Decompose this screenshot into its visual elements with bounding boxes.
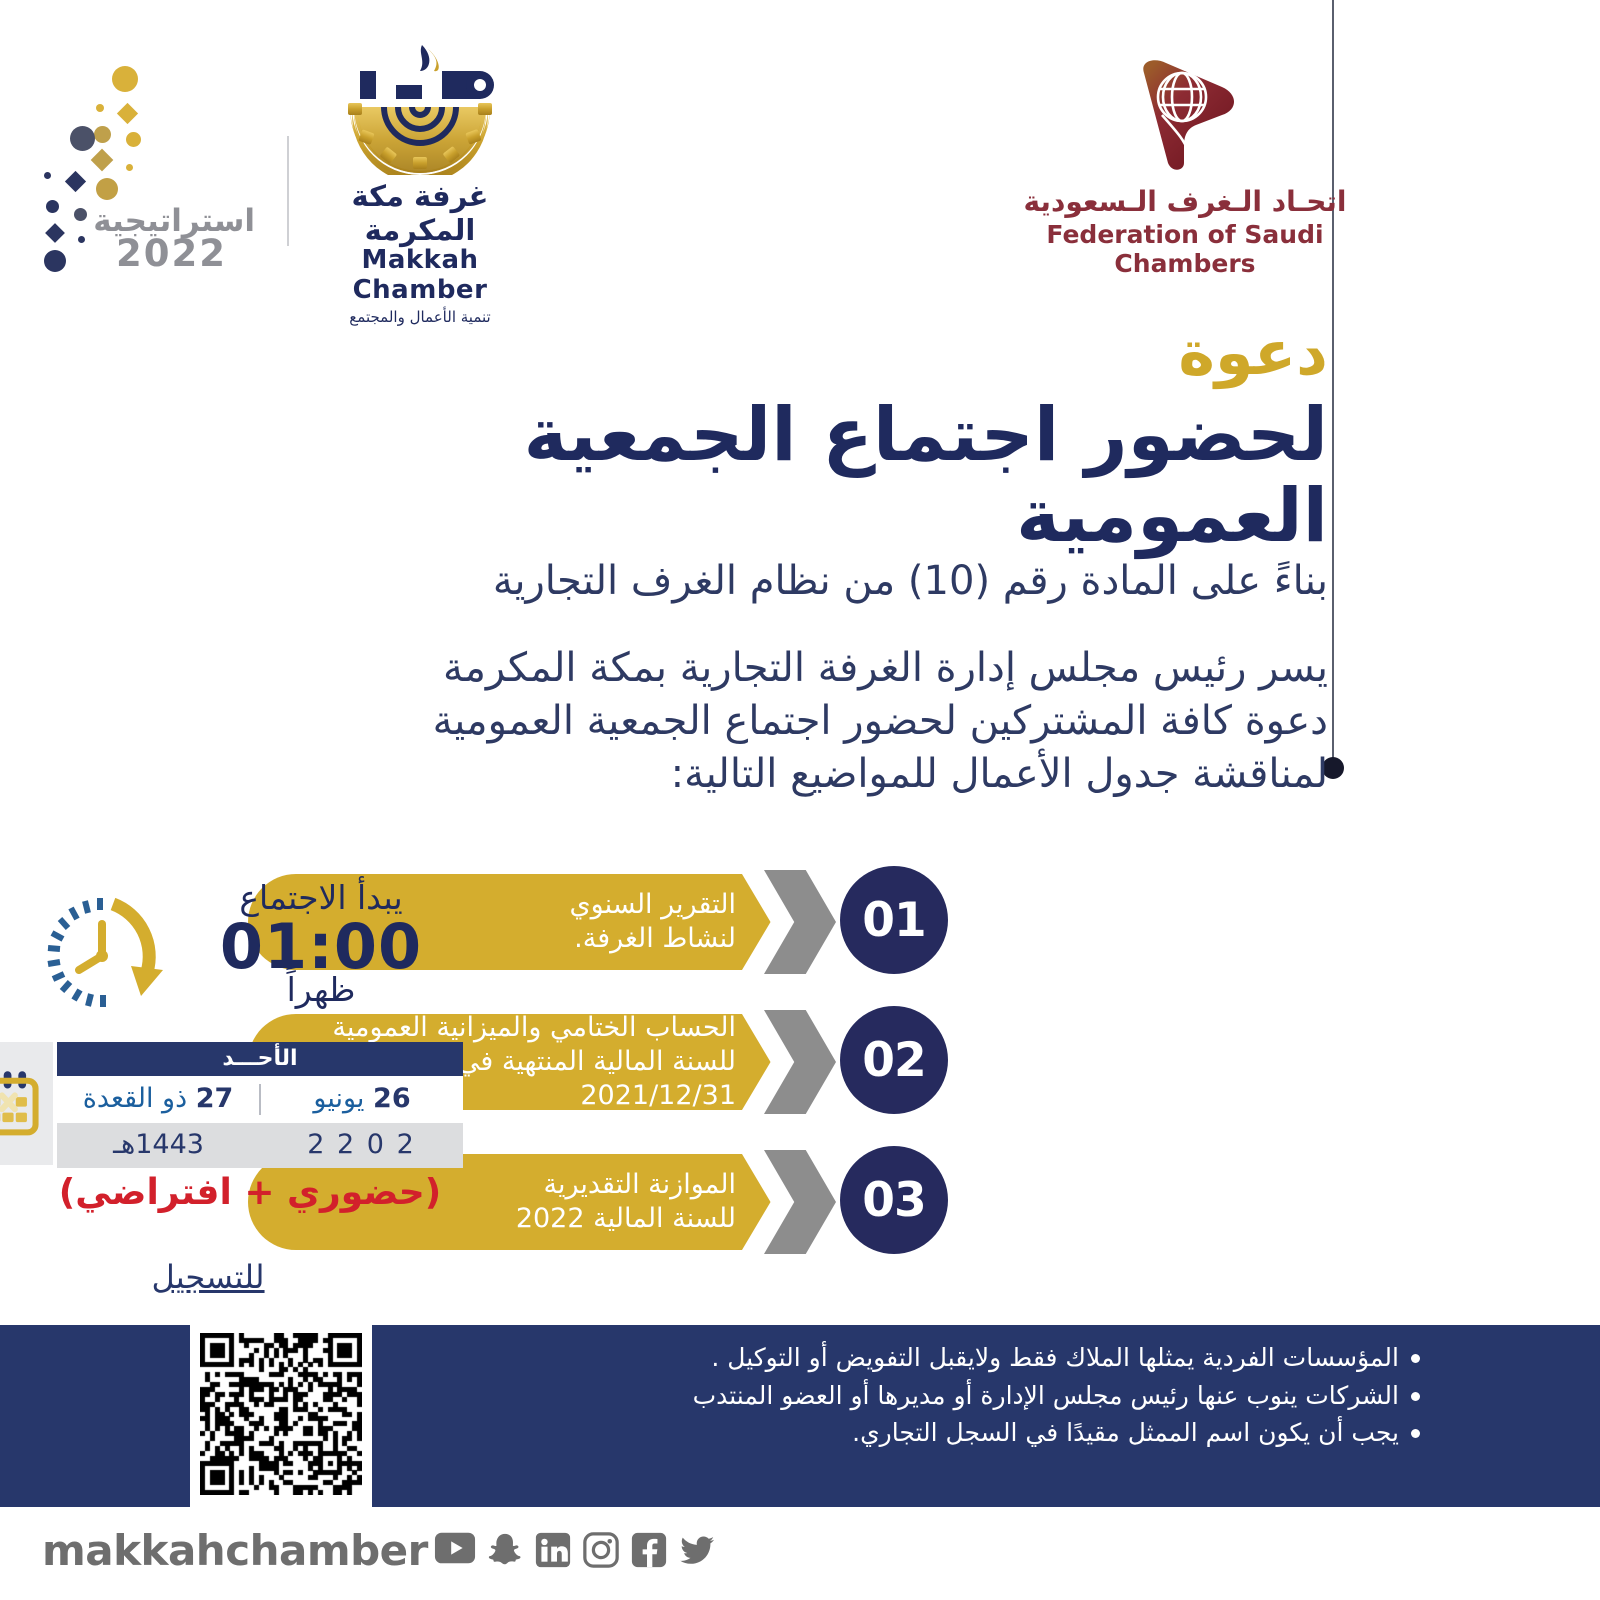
hijri-month: ذو القعدة xyxy=(83,1083,187,1114)
federation-logo-arabic: اتحـاد الـغرف الـسعودية xyxy=(1015,185,1355,218)
instagram-icon[interactable] xyxy=(582,1531,620,1569)
calendar-icon xyxy=(0,1042,53,1165)
legal-basis-line: بناءً على المادة رقم (10) من نظام الغرف … xyxy=(268,556,1328,606)
bullet-dot-icon xyxy=(1411,1392,1420,1401)
note-text: المؤسسات الفردية يمثلها الملاك فقط ولايق… xyxy=(711,1340,1399,1376)
hijri-day: 27 xyxy=(196,1083,234,1114)
body-line-1: يسر رئيس مجلس إدارة الغرفة التجارية بمكة… xyxy=(268,642,1328,695)
agenda-number-badge: 02 xyxy=(840,1006,948,1114)
date-table-main: الأحـــد 26 يونيو 27 ذو القعدة 2 0 2 2 1… xyxy=(57,1042,463,1168)
list-item: الشركات ينوب عنها رئيس مجلس الإدارة أو م… xyxy=(585,1378,1420,1414)
agenda-number-badge: 01 xyxy=(840,866,948,974)
notes-list: المؤسسات الفردية يمثلها الملاك فقط ولايق… xyxy=(585,1340,1420,1453)
makkah-logo-arabic: غرفة مكة المكرمة xyxy=(305,179,535,247)
bullet-dot-icon xyxy=(1411,1354,1420,1363)
makkah-chamber-logo: غرفة مكة المكرمة Makkah Chamber تنمية ال… xyxy=(305,45,535,275)
qr-code[interactable] xyxy=(190,1316,372,1512)
linkedin-icon[interactable] xyxy=(534,1531,572,1569)
agenda-number: 03 xyxy=(862,1173,925,1228)
bullet-dot-icon xyxy=(1411,1429,1420,1438)
strategy-logo-year: 2022 xyxy=(116,232,227,275)
attendance-mode-label: (حضوري + افتراضي) xyxy=(45,1172,455,1213)
gregorian-month: يونيو xyxy=(313,1083,364,1114)
agenda-number: 01 xyxy=(862,893,925,948)
agenda-number-badge: 03 xyxy=(840,1146,948,1254)
youtube-icon[interactable] xyxy=(438,1531,476,1569)
makkah-chamber-mark-icon xyxy=(330,45,510,175)
weekday-label: الأحـــد xyxy=(57,1042,463,1076)
qr-code-image[interactable] xyxy=(200,1333,362,1495)
snapchat-icon[interactable] xyxy=(486,1531,524,1569)
page-title: لحضور اجتماع الجمعية العمومية xyxy=(268,395,1328,558)
list-item: المؤسسات الفردية يمثلها الملاك فقط ولايق… xyxy=(585,1340,1420,1376)
strategy-2022-logo: استراتيجية 2022 xyxy=(30,60,265,275)
body-line-3: لمناقشة جدول الأعمال للمواضيع التالية: xyxy=(268,748,1328,801)
registration-label: للتسجيل xyxy=(108,1258,308,1296)
hijri-year: 1443هـ xyxy=(57,1123,260,1168)
list-item: يجب أن يكون اسم الممثل مقيدًا في السجل ا… xyxy=(585,1415,1420,1451)
makkah-logo-english: Makkah Chamber xyxy=(305,245,535,305)
header-logo-divider xyxy=(287,136,289,246)
body-line-2: دعوة كافة المشتركين لحضور اجتماع الجمعية… xyxy=(268,695,1328,748)
federation-mark-icon xyxy=(1110,55,1260,175)
hijri-day-month: 27 ذو القعدة xyxy=(57,1076,259,1123)
social-bar: makkahchamber xyxy=(28,1522,716,1578)
clock-icon xyxy=(35,886,165,1016)
gregorian-day-month: 26 يونيو xyxy=(261,1076,463,1123)
twitter-icon[interactable] xyxy=(678,1531,716,1569)
date-row-day: 26 يونيو 27 ذو القعدة xyxy=(57,1076,463,1123)
note-text: يجب أن يكون اسم الممثل مقيدًا في السجل ا… xyxy=(852,1415,1399,1451)
gregorian-year: 2 0 2 2 xyxy=(260,1123,463,1168)
date-row-year: 2 0 2 2 1443هـ xyxy=(57,1123,463,1168)
social-handle: makkahchamber xyxy=(28,1526,428,1575)
agenda-number: 02 xyxy=(862,1033,925,1088)
poster-root: استراتيجية 2022 xyxy=(0,0,1600,1600)
date-table-separator xyxy=(259,1084,261,1115)
federation-logo: اتحـاد الـغرف الـسعودية Federation of Sa… xyxy=(1015,55,1355,285)
note-text: الشركات ينوب عنها رئيس مجلس الإدارة أو م… xyxy=(693,1378,1399,1414)
facebook-icon[interactable] xyxy=(630,1531,668,1569)
agenda-text-line-1: الحساب الختامي والميزانية العمومية xyxy=(320,1011,736,1045)
federation-logo-english: Federation of Saudi Chambers xyxy=(1015,220,1355,278)
body-text: بناءً على المادة رقم (10) من نظام الغرف … xyxy=(268,556,1328,800)
gregorian-day: 26 xyxy=(373,1083,411,1114)
invitation-kicker: دعوة xyxy=(268,322,1328,384)
